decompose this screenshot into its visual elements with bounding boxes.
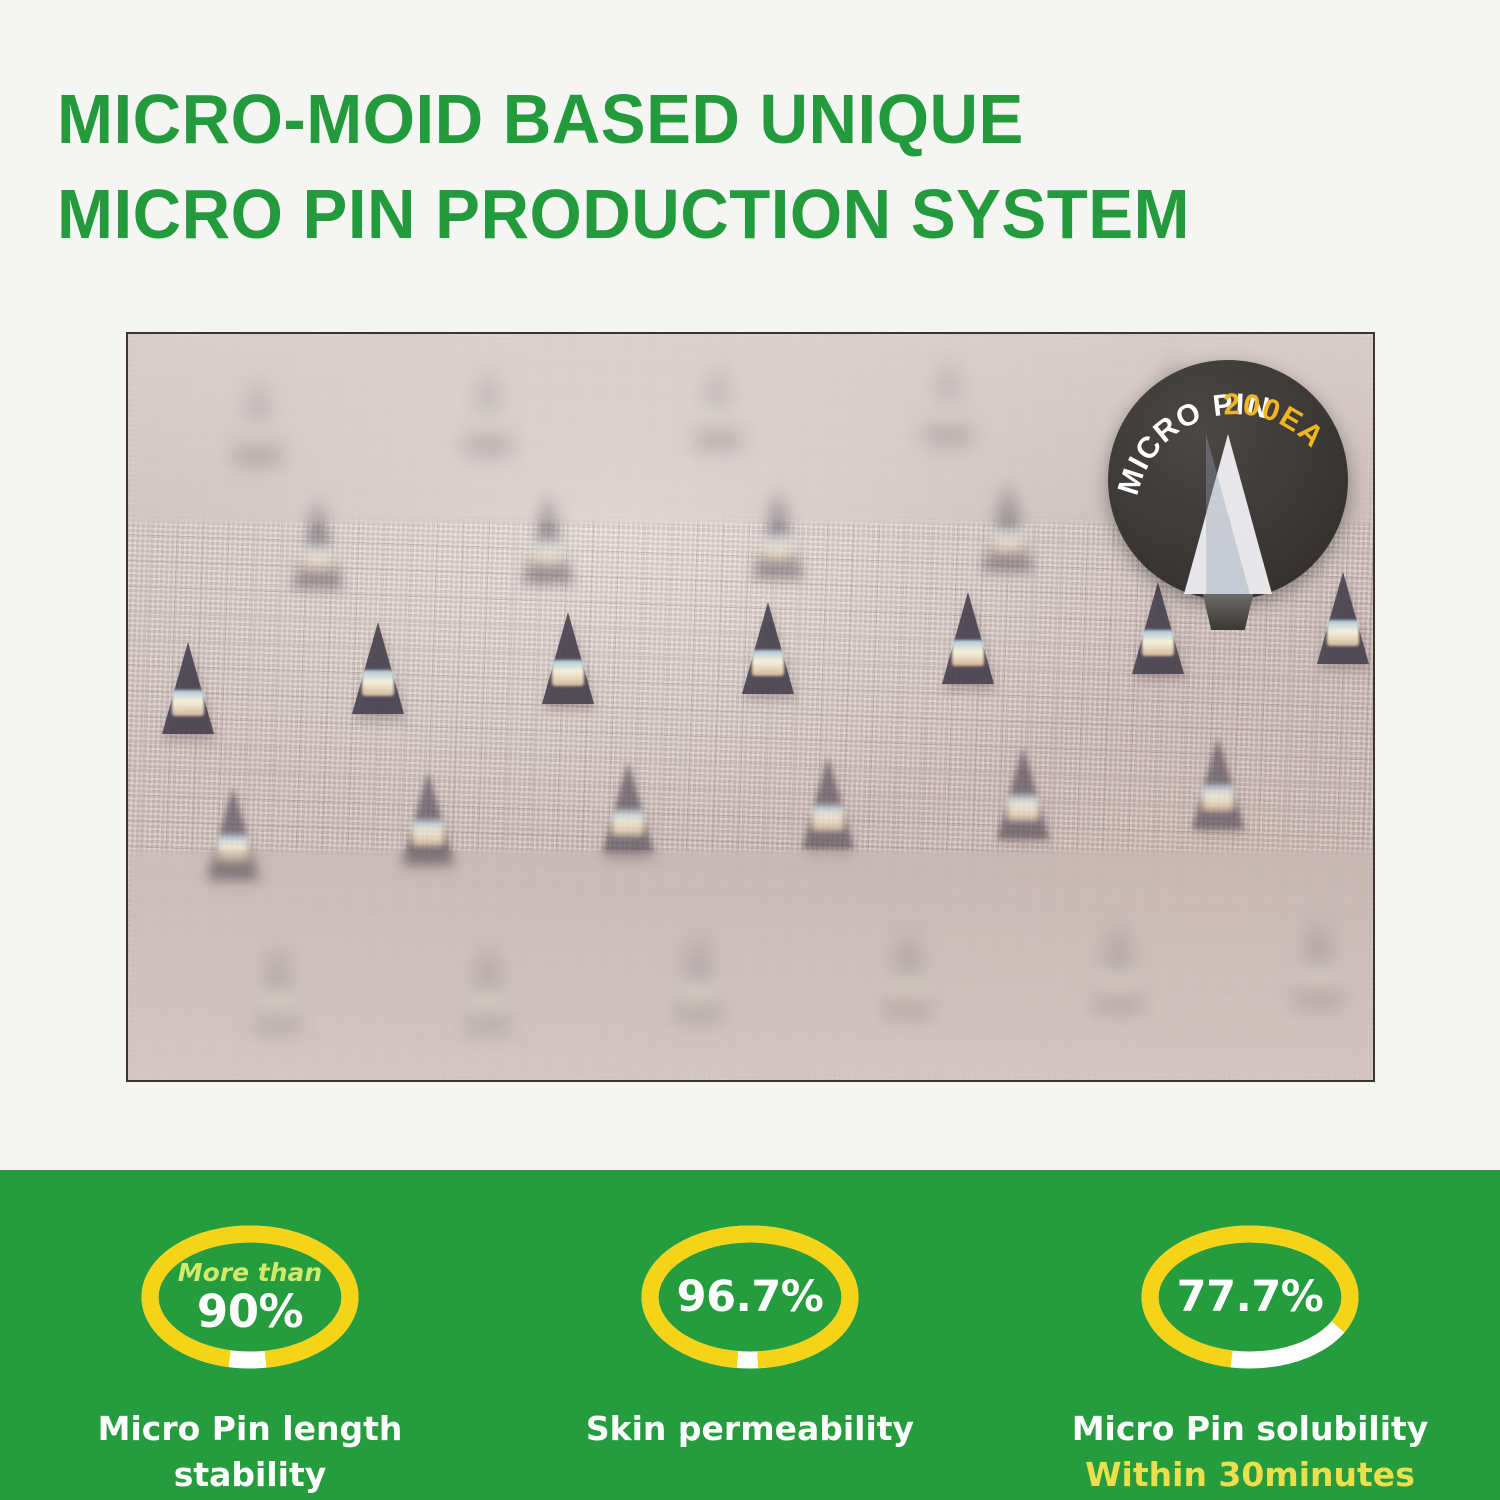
stat-label-line-1: Micro Pin solubility [1072, 1406, 1429, 1452]
stat-ring-1: More than 90% [136, 1222, 364, 1372]
micro-pin-pyramid-shade-icon [1206, 434, 1250, 594]
stat-label: Skin permeability [586, 1406, 914, 1452]
stat-ring-1-text: More than 90% [136, 1222, 364, 1372]
micro-pin [542, 612, 594, 704]
stats-band: More than 90% Micro Pin length stability… [0, 1170, 1500, 1500]
stat-skin-permeability: 96.7% Skin permeability [500, 1170, 1000, 1500]
stat-ring-2: 96.7% [636, 1222, 864, 1372]
stat-ring-2-text: 96.7% [636, 1222, 864, 1372]
stat-ring-3: 77.7% [1136, 1222, 1364, 1372]
stat-sublabel: Within 30minutes [1085, 1452, 1415, 1498]
title-line-1: MICRO-MOID BASED UNIQUE [57, 72, 1363, 167]
stat-label: Micro Pin length stability [98, 1406, 403, 1498]
page-title: MICRO-MOID BASED UNIQUE MICRO PIN PRODUC… [57, 72, 1417, 262]
stat-value: 77.7% [1177, 1276, 1324, 1319]
micro-pin [602, 762, 654, 854]
micro-pin [162, 642, 214, 734]
micro-pin [942, 592, 994, 684]
stat-prefix: More than [178, 1260, 322, 1285]
stat-label-line-1: Micro Pin length [98, 1406, 403, 1452]
stat-micro-pin-solubility: 77.7% Micro Pin solubility Within 30minu… [1000, 1170, 1500, 1500]
micro-pin [742, 602, 794, 694]
micro-pin [997, 747, 1049, 839]
stat-micro-pin-length-stability: More than 90% Micro Pin length stability [0, 1170, 500, 1500]
stat-label: Micro Pin solubility [1072, 1406, 1429, 1452]
stat-label-line-2: stability [98, 1452, 403, 1498]
photo-depth-blur-bottom [128, 850, 1373, 1080]
stat-ring-3-text: 77.7% [1136, 1222, 1364, 1372]
micro-pin [352, 622, 404, 714]
micro-pin [1192, 737, 1244, 829]
stat-label-line-1: Skin permeability [586, 1406, 914, 1452]
stat-value: 90% [197, 1289, 303, 1334]
stats-row: More than 90% Micro Pin length stability… [0, 1170, 1500, 1500]
stat-value: 96.7% [677, 1276, 824, 1319]
micro-pin-count-badge: MICRO PIN 200EA [1108, 360, 1348, 600]
micro-pin [802, 757, 854, 849]
title-line-2: MICRO PIN PRODUCTION SYSTEM [57, 167, 1363, 262]
